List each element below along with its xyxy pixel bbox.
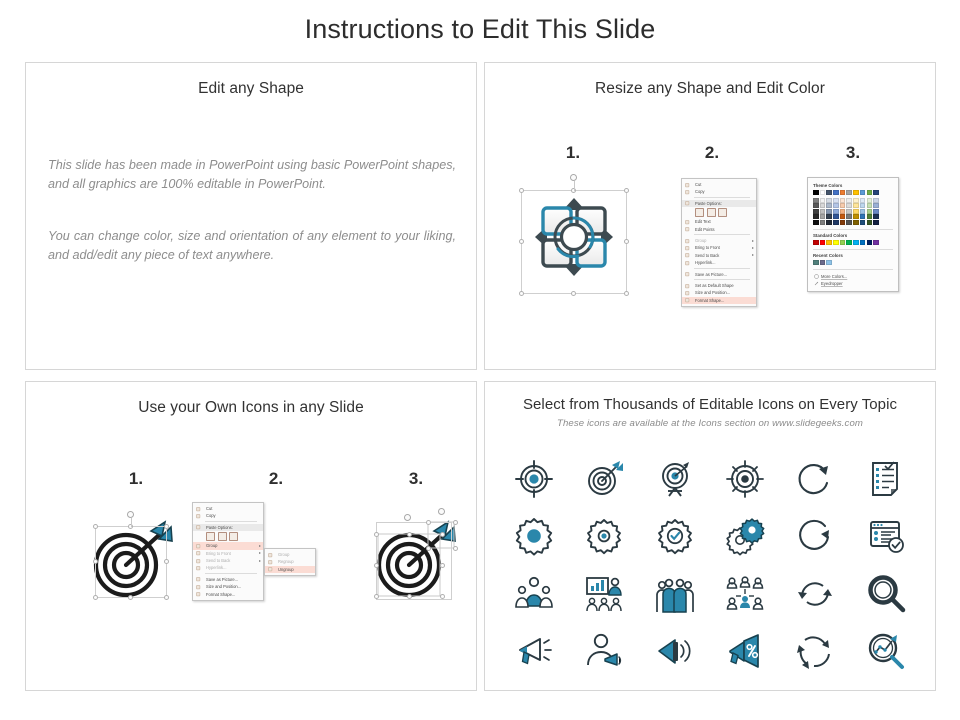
menu-item[interactable]: Format Shape... bbox=[193, 591, 263, 598]
color-swatch[interactable] bbox=[860, 198, 866, 203]
menu-item-icon bbox=[685, 298, 689, 302]
presentation-team-icon[interactable] bbox=[582, 572, 626, 616]
menu-item-label: Ungroup bbox=[278, 567, 294, 572]
color-swatch[interactable] bbox=[860, 190, 866, 195]
menu-item[interactable]: Send to Back bbox=[193, 557, 263, 564]
rotate-arrows-icon[interactable] bbox=[793, 629, 837, 673]
color-picker-dropdown[interactable]: Theme ColorsStandard ColorsRecent Colors… bbox=[807, 177, 899, 292]
menu-item-label: Hyperlink... bbox=[695, 260, 715, 265]
icon-step-number-3: 3. bbox=[396, 469, 436, 489]
color-swatch[interactable] bbox=[860, 209, 866, 214]
color-swatch[interactable] bbox=[867, 190, 873, 195]
menu-item-icon bbox=[685, 190, 689, 194]
color-swatch[interactable] bbox=[826, 190, 832, 195]
color-swatch[interactable] bbox=[873, 240, 879, 245]
eyedropper-icon bbox=[814, 281, 819, 286]
color-swatch[interactable] bbox=[820, 220, 826, 225]
figure-selected-shape[interactable] bbox=[513, 176, 635, 298]
menu-item[interactable]: Group bbox=[193, 542, 263, 549]
color-swatch[interactable] bbox=[853, 220, 859, 225]
menu-item-icon bbox=[196, 566, 200, 570]
menu-item-icon bbox=[196, 577, 200, 581]
theme-color-column[interactable] bbox=[860, 190, 866, 225]
color-swatch[interactable] bbox=[846, 240, 852, 245]
color-swatch[interactable] bbox=[846, 220, 852, 225]
icon-library-grid bbox=[499, 450, 921, 680]
team-hierarchy-icon[interactable] bbox=[723, 572, 767, 616]
menu-item-icon bbox=[196, 585, 200, 589]
color-swatch[interactable] bbox=[820, 203, 826, 208]
team-leader-icon[interactable] bbox=[512, 572, 556, 616]
color-swatch[interactable] bbox=[867, 198, 873, 203]
menu-item-label: Paste Options: bbox=[695, 201, 722, 206]
menu-item-label: Size and Position... bbox=[206, 584, 241, 589]
menu-item[interactable]: Size and Position... bbox=[682, 289, 756, 296]
color-swatch[interactable] bbox=[820, 209, 826, 214]
sync-arrows-icon[interactable] bbox=[793, 572, 837, 616]
color-swatch[interactable] bbox=[873, 198, 879, 203]
color-swatch[interactable] bbox=[813, 240, 819, 245]
menu-item[interactable]: Format Shape... bbox=[682, 297, 756, 304]
menu-item-icon bbox=[685, 272, 689, 276]
color-swatch[interactable] bbox=[867, 220, 873, 225]
color-swatch[interactable] bbox=[813, 220, 819, 225]
paste-keep-formatting-icon[interactable] bbox=[695, 208, 704, 217]
menu-item[interactable]: Save as Picture... bbox=[682, 271, 756, 278]
menu-item-label: Edit Points bbox=[695, 227, 715, 232]
menu-item-label: Set as Default Shape bbox=[695, 283, 734, 288]
menu-separator bbox=[694, 234, 750, 235]
color-swatch[interactable] bbox=[853, 190, 859, 195]
color-swatch[interactable] bbox=[813, 190, 819, 195]
menu-item-label: Bring to Front bbox=[695, 245, 720, 250]
color-swatch[interactable] bbox=[826, 214, 832, 219]
color-swatch[interactable] bbox=[820, 214, 826, 219]
color-swatch[interactable] bbox=[826, 198, 832, 203]
menu-item[interactable]: Bring to Front bbox=[682, 244, 756, 251]
color-swatch[interactable] bbox=[846, 198, 852, 203]
color-swatch[interactable] bbox=[853, 214, 859, 219]
panel-own-icons: Use your Own Icons in any Slide 1. 2. 3. bbox=[25, 381, 477, 691]
gears-pair-icon[interactable] bbox=[723, 514, 767, 558]
theme-color-column[interactable] bbox=[833, 190, 839, 225]
submenu-chevron-icon bbox=[752, 240, 754, 242]
reload-circle-icon[interactable] bbox=[793, 514, 837, 558]
color-swatch[interactable] bbox=[846, 190, 852, 195]
panel-edit-any-shape: Edit any Shape This slide has been made … bbox=[25, 62, 477, 370]
color-swatch[interactable] bbox=[873, 220, 879, 225]
color-swatch[interactable] bbox=[873, 214, 879, 219]
menu-item-icon bbox=[685, 253, 689, 257]
menu-item[interactable]: Edit Points bbox=[682, 226, 756, 233]
menu-item-icon bbox=[685, 239, 689, 243]
theme-color-column[interactable] bbox=[853, 190, 859, 225]
menu-item-label: Size and Position... bbox=[695, 290, 730, 295]
figure-target-ungrouped[interactable] bbox=[354, 508, 464, 618]
paragraph-editable-shapes: This slide has been made in PowerPoint u… bbox=[48, 156, 456, 194]
color-swatch[interactable] bbox=[820, 240, 826, 245]
eyedropper-option[interactable]: Eyedropper bbox=[813, 280, 893, 287]
gear-filled-icon[interactable] bbox=[512, 514, 556, 558]
color-swatch[interactable] bbox=[840, 214, 846, 219]
step-number-3: 3. bbox=[833, 143, 873, 163]
menu-separator bbox=[694, 197, 750, 198]
menu-item-label: Cut bbox=[206, 506, 212, 511]
color-swatch[interactable] bbox=[846, 203, 852, 208]
refresh-clockwise-icon[interactable] bbox=[793, 457, 837, 501]
color-swatch[interactable] bbox=[840, 209, 846, 214]
submenu-chevron-icon bbox=[259, 545, 261, 547]
color-swatch[interactable] bbox=[833, 190, 839, 195]
slide-canvas: Instructions to Edit This Slide Edit any… bbox=[0, 0, 960, 720]
paste-picture-icon[interactable] bbox=[718, 208, 727, 217]
magnifier-analytics-icon[interactable] bbox=[864, 629, 908, 673]
menu-item[interactable]: Hyperlink... bbox=[682, 259, 756, 266]
menu-item-label: Bring to Front bbox=[206, 551, 231, 556]
color-swatch[interactable] bbox=[846, 209, 852, 214]
menu-item-icon bbox=[196, 507, 200, 511]
color-swatch[interactable] bbox=[867, 214, 873, 219]
icon-step-number-1: 1. bbox=[116, 469, 156, 489]
color-swatch[interactable] bbox=[833, 209, 839, 214]
menu-item-icon bbox=[685, 183, 689, 187]
color-swatch[interactable] bbox=[826, 220, 832, 225]
theme-color-column[interactable] bbox=[820, 190, 826, 225]
paste-options-row[interactable] bbox=[682, 207, 756, 218]
menu-item[interactable]: Bring to Front bbox=[193, 550, 263, 557]
menu-item-icon bbox=[685, 291, 689, 295]
more-colors-option[interactable]: More Colors... bbox=[813, 273, 893, 280]
color-swatch[interactable] bbox=[820, 198, 826, 203]
menu-item-icon bbox=[196, 525, 200, 529]
menu-item-icon bbox=[685, 261, 689, 265]
menu-item-icon bbox=[196, 544, 200, 548]
color-swatch[interactable] bbox=[853, 203, 859, 208]
menu-item[interactable]: Size and Position... bbox=[193, 583, 263, 590]
menu-item[interactable]: Edit Text bbox=[682, 218, 756, 225]
color-swatch[interactable] bbox=[813, 198, 819, 203]
color-swatch[interactable] bbox=[873, 209, 879, 214]
menu-item-icon bbox=[268, 553, 272, 557]
palette-icon bbox=[814, 274, 819, 279]
picker-separator bbox=[813, 249, 893, 250]
color-swatch[interactable] bbox=[853, 198, 859, 203]
picker-separator bbox=[813, 229, 893, 230]
panel-resize-shape: Resize any Shape and Edit Color 1. 2. 3. bbox=[484, 62, 936, 370]
menu-item-label: Send to Back bbox=[206, 558, 230, 563]
crosshair-target-icon[interactable] bbox=[512, 457, 556, 501]
menu-item[interactable]: Save as Picture... bbox=[193, 576, 263, 583]
theme-color-column[interactable] bbox=[846, 190, 852, 225]
menu-item-icon bbox=[196, 551, 200, 555]
step-number-1: 1. bbox=[553, 143, 593, 163]
crosshair-dot-icon[interactable] bbox=[723, 457, 767, 501]
menu-item[interactable]: Regroup bbox=[265, 558, 315, 565]
menu-item-label: Save as Picture... bbox=[695, 272, 727, 277]
checklist-approved-icon[interactable] bbox=[864, 514, 908, 558]
menu-item-label: Group bbox=[206, 543, 217, 548]
more-colors-label: More Colors... bbox=[821, 274, 847, 279]
color-swatch[interactable] bbox=[873, 203, 879, 208]
menu-item[interactable]: Send to Back bbox=[682, 252, 756, 259]
menu-item-icon bbox=[685, 227, 689, 231]
picker-separator bbox=[813, 269, 893, 270]
color-swatch[interactable] bbox=[860, 220, 866, 225]
menu-item[interactable]: Cut bbox=[682, 181, 756, 188]
menu-item-label: Group bbox=[695, 238, 706, 243]
menu-item-icon bbox=[196, 592, 200, 596]
color-swatch[interactable] bbox=[853, 240, 859, 245]
color-swatch[interactable] bbox=[833, 203, 839, 208]
magnifier-icon[interactable] bbox=[864, 572, 908, 616]
color-swatch[interactable] bbox=[860, 203, 866, 208]
submenu-chevron-icon bbox=[752, 254, 754, 256]
color-swatch[interactable] bbox=[820, 260, 826, 265]
color-swatch[interactable] bbox=[853, 209, 859, 214]
color-swatch[interactable] bbox=[833, 240, 839, 245]
color-swatch[interactable] bbox=[873, 190, 879, 195]
menu-item-label: Edit Text bbox=[695, 219, 711, 224]
menu-item[interactable]: Hyperlink... bbox=[193, 564, 263, 571]
color-swatch[interactable] bbox=[867, 209, 873, 214]
panel-icon-library: Select from Thousands of Editable Icons … bbox=[484, 381, 936, 691]
menu-item-icon bbox=[196, 559, 200, 563]
theme-colors-swatches[interactable] bbox=[813, 190, 893, 225]
menu-item-label: Group bbox=[278, 552, 289, 557]
target-stand-icon[interactable] bbox=[653, 457, 697, 501]
menu-item-label: Format Shape... bbox=[695, 298, 724, 303]
megaphone-discount-icon[interactable] bbox=[723, 629, 767, 673]
color-swatch[interactable] bbox=[867, 240, 873, 245]
menu-item-label: Paste Options: bbox=[206, 525, 233, 530]
menu-item[interactable]: Copy bbox=[682, 188, 756, 195]
color-swatch[interactable] bbox=[813, 203, 819, 208]
megaphone-icon[interactable] bbox=[512, 629, 556, 673]
gear-small-icon[interactable] bbox=[582, 514, 626, 558]
menu-item-label: Cut bbox=[695, 182, 701, 187]
theme-color-column[interactable] bbox=[867, 190, 873, 225]
submenu-chevron-icon bbox=[259, 560, 261, 562]
target-arrow-icon[interactable] bbox=[582, 457, 626, 501]
color-swatch[interactable] bbox=[826, 209, 832, 214]
color-swatch[interactable] bbox=[813, 214, 819, 219]
paste-keep-formatting-icon[interactable] bbox=[206, 532, 215, 541]
menu-item-label: Copy bbox=[206, 513, 216, 518]
gear-check-icon[interactable] bbox=[653, 514, 697, 558]
color-swatch[interactable] bbox=[826, 260, 832, 265]
color-swatch[interactable] bbox=[833, 214, 839, 219]
color-swatch[interactable] bbox=[826, 203, 832, 208]
paragraph-change-color: You can change color, size and orientati… bbox=[48, 227, 456, 265]
color-swatch[interactable] bbox=[826, 240, 832, 245]
theme-color-column[interactable] bbox=[826, 190, 832, 225]
menu-item-icon bbox=[685, 284, 689, 288]
menu-item-icon bbox=[196, 514, 200, 518]
menu-separator bbox=[205, 521, 257, 522]
recent-colors-label: Recent Colors bbox=[813, 253, 893, 258]
menu-item[interactable]: Cut bbox=[193, 505, 263, 512]
panel-heading-edit-shape: Edit any Shape bbox=[26, 80, 476, 98]
person-announce-icon[interactable] bbox=[582, 629, 626, 673]
color-swatch[interactable] bbox=[846, 214, 852, 219]
standard-colors-swatches[interactable] bbox=[813, 240, 893, 245]
menu-item-label: Send to Back bbox=[695, 253, 719, 258]
context-menu-shape[interactable]: CutCopyPaste Options:Edit TextEdit Point… bbox=[681, 178, 757, 307]
page-title: Instructions to Edit This Slide bbox=[0, 14, 960, 45]
menu-item-icon bbox=[685, 220, 689, 224]
menu-item-label: Save as Picture... bbox=[206, 577, 238, 582]
menu-item-icon bbox=[685, 201, 689, 205]
paste-options-row[interactable] bbox=[193, 531, 263, 542]
menu-separator bbox=[694, 279, 750, 280]
panel-heading-resize-shape: Resize any Shape and Edit Color bbox=[485, 80, 935, 98]
step-number-2: 2. bbox=[692, 143, 732, 163]
standard-colors-label: Standard Colors bbox=[813, 233, 893, 238]
submenu-chevron-icon bbox=[259, 552, 261, 554]
group-people-icon[interactable] bbox=[653, 572, 697, 616]
figure-target-grouped[interactable] bbox=[71, 508, 181, 618]
menu-item-icon bbox=[268, 567, 272, 571]
color-swatch[interactable] bbox=[840, 240, 846, 245]
paste-merge-formatting-icon[interactable] bbox=[218, 532, 227, 541]
theme-color-column[interactable] bbox=[813, 190, 819, 225]
theme-color-column[interactable] bbox=[840, 190, 846, 225]
menu-item-label: Format Shape... bbox=[206, 592, 235, 597]
menu-item-label: Hyperlink... bbox=[206, 565, 226, 570]
recent-colors-swatches[interactable] bbox=[813, 260, 893, 265]
menu-item[interactable]: Paste Options: bbox=[682, 200, 756, 207]
menu-item-icon bbox=[268, 560, 272, 564]
color-swatch[interactable] bbox=[820, 190, 826, 195]
color-swatch[interactable] bbox=[840, 220, 846, 225]
color-swatch[interactable] bbox=[813, 260, 819, 265]
panel-subheading-icon-library: These icons are available at the Icons s… bbox=[485, 418, 935, 429]
speaker-loud-icon[interactable] bbox=[653, 629, 697, 673]
submenu-chevron-icon bbox=[752, 247, 754, 249]
theme-color-column[interactable] bbox=[873, 190, 879, 225]
theme-colors-label: Theme Colors bbox=[813, 183, 893, 188]
panel-heading-own-icons: Use your Own Icons in any Slide bbox=[26, 399, 476, 417]
checklist-document-icon[interactable] bbox=[864, 457, 908, 501]
color-swatch[interactable] bbox=[840, 203, 846, 208]
color-swatch[interactable] bbox=[833, 198, 839, 203]
menu-item[interactable]: Set as Default Shape bbox=[682, 282, 756, 289]
paste-merge-formatting-icon[interactable] bbox=[707, 208, 716, 217]
color-swatch[interactable] bbox=[867, 203, 873, 208]
panel-heading-icon-library: Select from Thousands of Editable Icons … bbox=[485, 396, 935, 413]
context-submenu-group[interactable]: GroupRegroupUngroup bbox=[264, 548, 316, 576]
menu-item[interactable]: Group bbox=[682, 237, 756, 244]
color-swatch[interactable] bbox=[860, 240, 866, 245]
menu-item-icon bbox=[685, 246, 689, 250]
icon-step-number-2: 2. bbox=[256, 469, 296, 489]
menu-item-label: Regroup bbox=[278, 559, 294, 564]
color-swatch[interactable] bbox=[833, 220, 839, 225]
menu-separator bbox=[694, 268, 750, 269]
menu-item[interactable]: Group bbox=[265, 551, 315, 558]
menu-item[interactable]: Ungroup bbox=[265, 566, 315, 573]
menu-item[interactable]: Copy bbox=[193, 512, 263, 519]
paste-picture-icon[interactable] bbox=[229, 532, 238, 541]
eyedropper-label: Eyedropper bbox=[821, 281, 843, 286]
menu-item-label: Copy bbox=[695, 189, 705, 194]
color-swatch[interactable] bbox=[860, 214, 866, 219]
menu-separator bbox=[205, 573, 257, 574]
color-swatch[interactable] bbox=[840, 190, 846, 195]
color-swatch[interactable] bbox=[840, 198, 846, 203]
context-menu-group[interactable]: CutCopyPaste Options:GroupBring to Front… bbox=[192, 502, 264, 601]
color-swatch[interactable] bbox=[813, 209, 819, 214]
menu-item[interactable]: Paste Options: bbox=[193, 524, 263, 531]
